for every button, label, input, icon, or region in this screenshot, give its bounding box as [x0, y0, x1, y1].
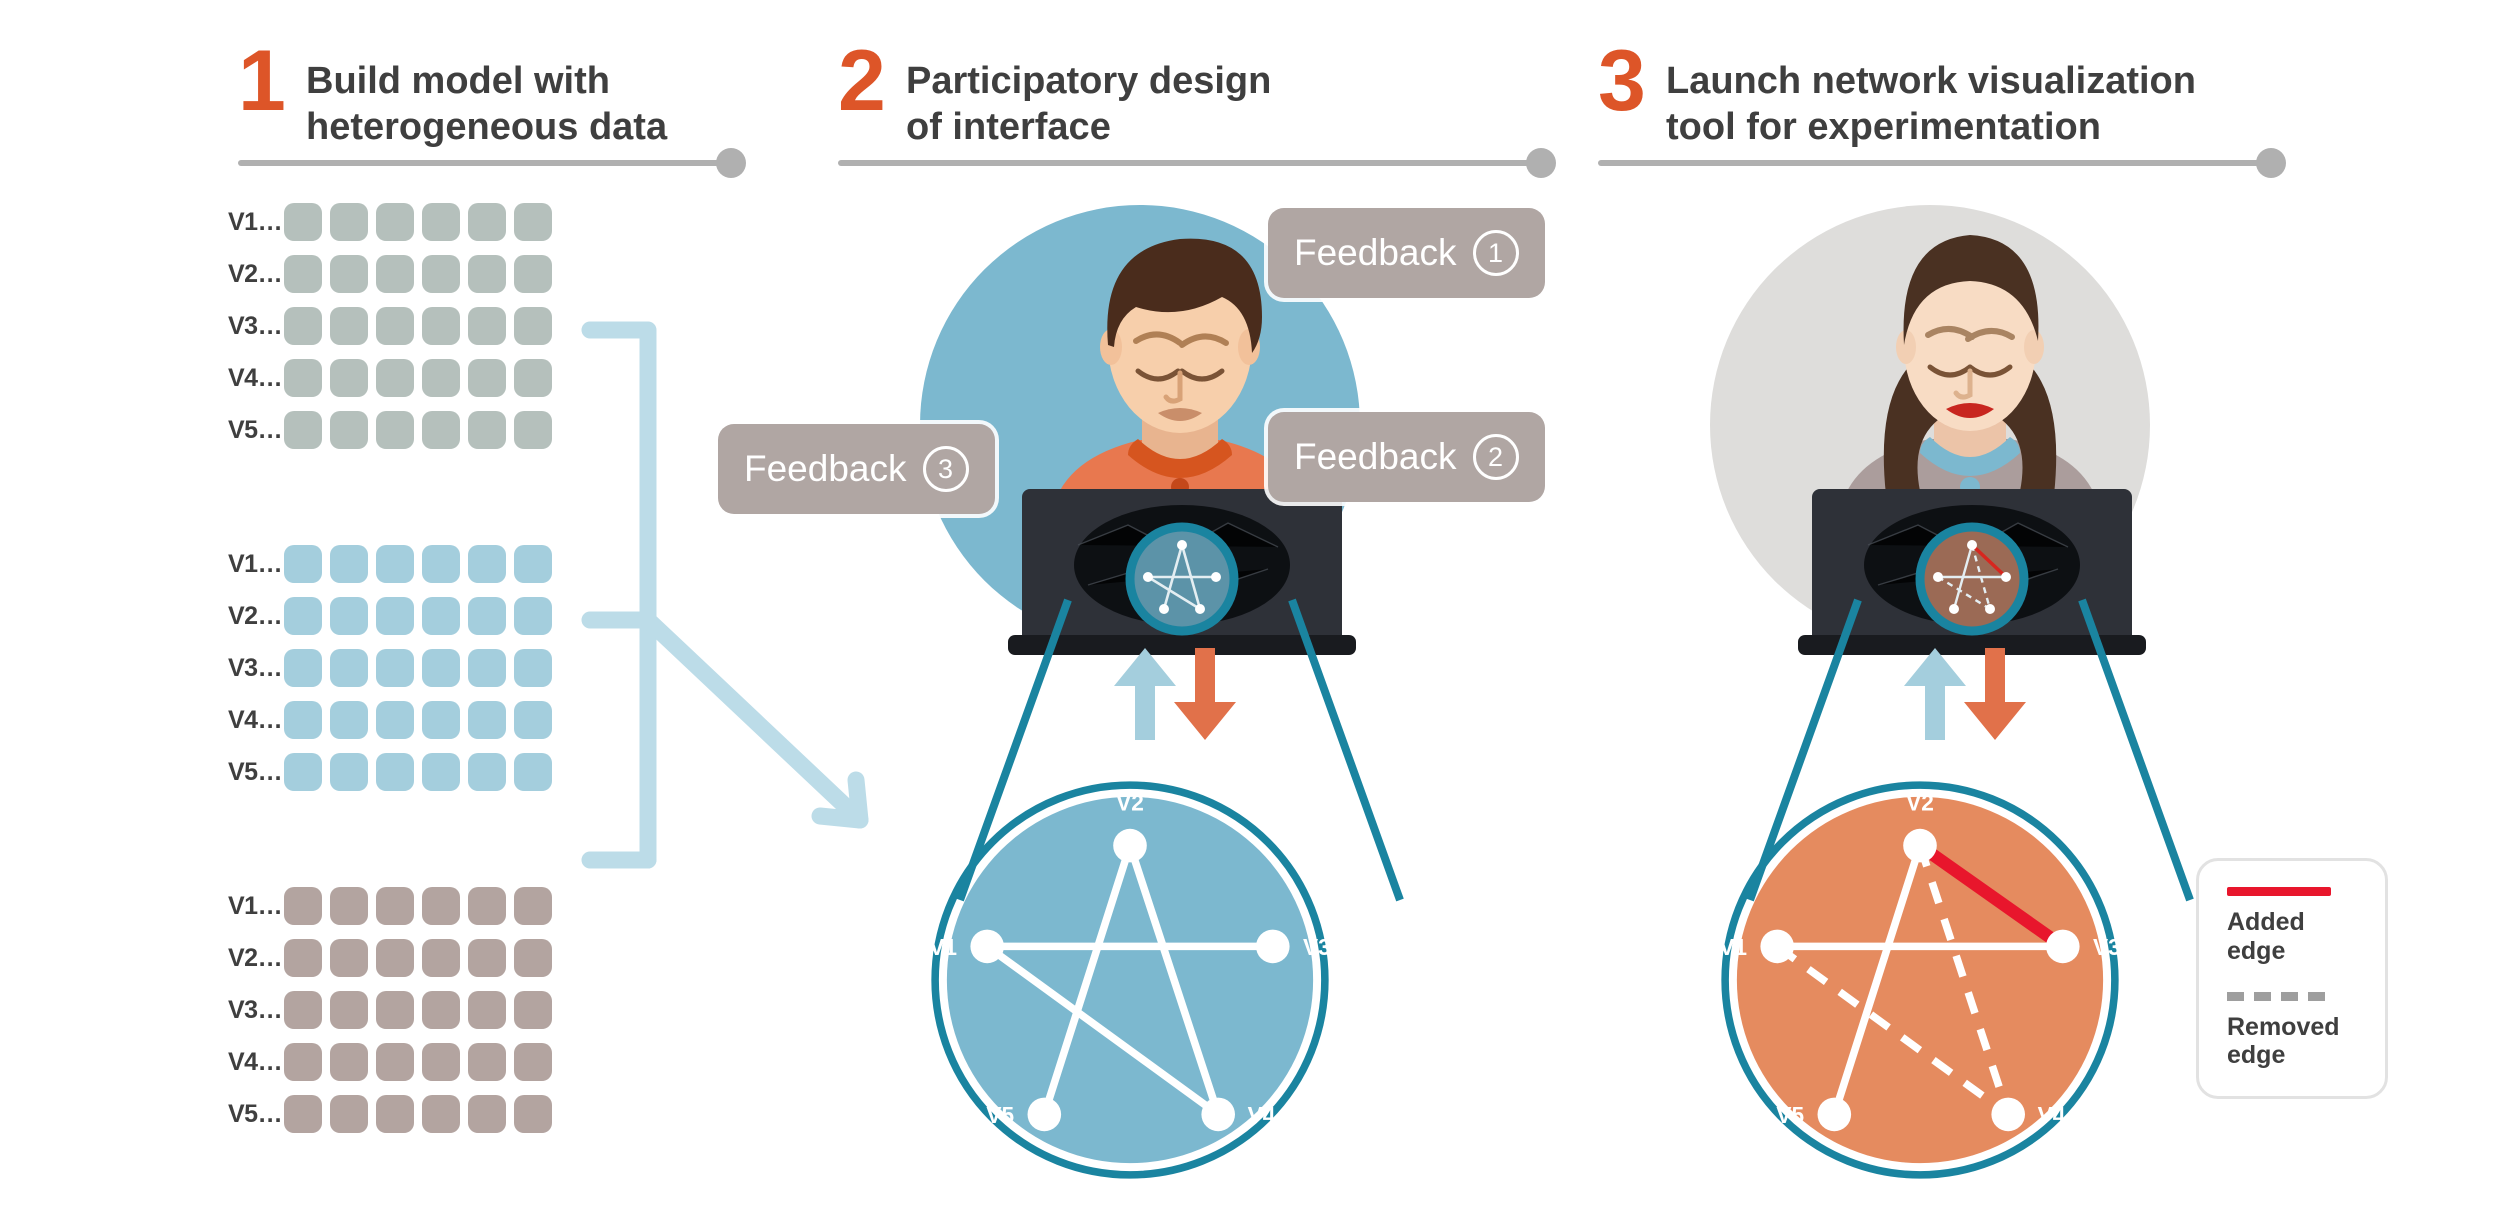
- matrix-row-label: V3…: [228, 654, 284, 683]
- matrix-cell: [330, 545, 368, 583]
- matrix-cell: [376, 649, 414, 687]
- matrix-cell: [330, 753, 368, 791]
- matrix-cell: [330, 701, 368, 739]
- matrix-row: V5…: [228, 746, 560, 798]
- matrix-cell: [376, 887, 414, 925]
- matrix-cell: [422, 939, 460, 977]
- node-v5: [1028, 1098, 1062, 1132]
- matrix-cell: [284, 307, 322, 345]
- matrix-cell: [468, 1043, 506, 1081]
- matrix-cell: [330, 991, 368, 1029]
- node-v3: [1256, 930, 1290, 964]
- matrix-row: V5…: [228, 404, 560, 456]
- matrix-cell: [468, 701, 506, 739]
- node-v2: [1113, 829, 1147, 863]
- matrix-row-label: V4…: [228, 706, 284, 735]
- matrix-row: V5…: [228, 1088, 560, 1140]
- node-label-v3: V3: [1303, 934, 1331, 960]
- matrix-cell: [284, 545, 322, 583]
- step-1-number: 1: [238, 38, 284, 124]
- matrix-cell: [330, 411, 368, 449]
- step-2-rule: [838, 160, 1538, 166]
- matrix-green: V1… V2… V3… V4… V5…: [228, 196, 560, 456]
- matrix-cell: [330, 255, 368, 293]
- matrix-cell: [284, 701, 322, 739]
- matrix-cell: [468, 411, 506, 449]
- step-3-scene: [1690, 195, 2250, 635]
- matrix-cell: [376, 359, 414, 397]
- step-1-rule: [238, 160, 728, 166]
- matrix-row: V1…: [228, 196, 560, 248]
- feedback-bubble-1-number: 1: [1473, 230, 1519, 276]
- added-edge-swatch-icon: [2227, 887, 2331, 896]
- node-v3: [2046, 930, 2080, 964]
- matrix-cell: [468, 649, 506, 687]
- matrix-cell: [284, 887, 322, 925]
- matrix-cell: [376, 307, 414, 345]
- matrix-row: V1…: [228, 538, 560, 590]
- matrix-cell: [514, 887, 552, 925]
- matrix-cell: [514, 545, 552, 583]
- matrix-cell: [330, 1095, 368, 1133]
- matrix-cell: [422, 597, 460, 635]
- matrix-row: V2…: [228, 590, 560, 642]
- matrix-cell: [422, 307, 460, 345]
- step-2-title: Participatory design of interface: [906, 58, 1271, 151]
- matrix-row-label: V1…: [228, 892, 284, 921]
- matrix-row-label: V5…: [228, 1100, 284, 1129]
- matrix-cell: [376, 597, 414, 635]
- matrix-cell: [468, 991, 506, 1029]
- matrix-cell: [468, 203, 506, 241]
- matrix-cell: [468, 255, 506, 293]
- matrix-cell: [376, 991, 414, 1029]
- feedback-bubble-2-label: Feedback: [1294, 436, 1457, 478]
- step-1-title: Build model with heterogeneous data: [306, 58, 667, 151]
- matrix-row: V4…: [228, 694, 560, 746]
- matrix-cell: [422, 411, 460, 449]
- step-3-rule: [1598, 160, 2268, 166]
- matrix-cell: [284, 411, 322, 449]
- matrix-cell: [376, 701, 414, 739]
- matrix-row-label: V4…: [228, 1048, 284, 1077]
- matrix-cell: [330, 359, 368, 397]
- feedback-bubble-1-label: Feedback: [1294, 232, 1457, 274]
- matrix-cell: [514, 753, 552, 791]
- matrix-cell: [514, 701, 552, 739]
- matrix-cell: [330, 307, 368, 345]
- matrix-cell: [422, 545, 460, 583]
- infographic-canvas: 1 Build model with heterogeneous data 2 …: [0, 0, 2500, 1211]
- matrix-cell: [284, 991, 322, 1029]
- matrix-row-label: V5…: [228, 758, 284, 787]
- step-2-network-circle: V2 V1 V3 V4 V5: [840, 770, 1420, 1190]
- matrix-cell: [468, 887, 506, 925]
- matrix-cell: [514, 1095, 552, 1133]
- matrix-row-label: V2…: [228, 602, 284, 631]
- matrix-cell: [514, 991, 552, 1029]
- feedback-bubble-3-label: Feedback: [744, 448, 907, 490]
- feedback-bubble-2-number: 2: [1473, 434, 1519, 480]
- matrix-row-label: V2…: [228, 944, 284, 973]
- matrix-cell: [284, 1095, 322, 1133]
- matrix-cell: [468, 753, 506, 791]
- node-v2: [1903, 829, 1937, 863]
- matrix-cell: [422, 649, 460, 687]
- matrix-cell: [284, 939, 322, 977]
- matrix-row: V3…: [228, 300, 560, 352]
- node-label-v4: V4: [1248, 1102, 1276, 1128]
- matrix-row: V2…: [228, 932, 560, 984]
- matrix-cell: [514, 649, 552, 687]
- matrix-row-label: V1…: [228, 208, 284, 237]
- matrix-cell: [422, 203, 460, 241]
- matrix-row: V3…: [228, 642, 560, 694]
- matrix-cell: [330, 203, 368, 241]
- matrix-cell: [514, 411, 552, 449]
- matrix-row-label: V3…: [228, 312, 284, 341]
- matrix-cell: [330, 597, 368, 635]
- matrix-cell: [514, 307, 552, 345]
- step-3-network-circle: V2 V1 V3 V4 V5: [1630, 770, 2210, 1190]
- feedback-bubble-3-number: 3: [923, 446, 969, 492]
- matrix-row-label: V5…: [228, 416, 284, 445]
- node-v1: [970, 930, 1004, 964]
- matrix-cell: [514, 939, 552, 977]
- matrix-cell: [468, 545, 506, 583]
- matrix-row-label: V3…: [228, 996, 284, 1025]
- matrix-row-label: V1…: [228, 550, 284, 579]
- matrix-cell: [376, 203, 414, 241]
- node-label-v5: V5: [1776, 1102, 1804, 1128]
- edge-legend: Added edge Removed edge: [2196, 858, 2388, 1099]
- node-label-v2: V2: [1116, 789, 1144, 815]
- node-label-v2: V2: [1906, 789, 1934, 815]
- matrix-cell: [376, 753, 414, 791]
- step-1-rule-dot: [716, 148, 746, 178]
- step-3-rule-dot: [2256, 148, 2286, 178]
- matrix-cell: [376, 1043, 414, 1081]
- matrix-cell: [330, 887, 368, 925]
- matrix-cell: [330, 1043, 368, 1081]
- node-label-v5: V5: [986, 1102, 1014, 1128]
- matrix-cell: [284, 597, 322, 635]
- matrix-blue: V1… V2… V3… V4… V5…: [228, 538, 560, 798]
- step-3-title: Launch network visualization tool for ex…: [1666, 58, 2196, 151]
- feedback-bubble-3[interactable]: Feedback 3: [718, 424, 995, 514]
- matrix-cell: [422, 701, 460, 739]
- matrix-cell: [284, 649, 322, 687]
- matrix-cell: [468, 359, 506, 397]
- node-label-v4: V4: [2038, 1102, 2066, 1128]
- feedback-bubble-2[interactable]: Feedback 2: [1268, 412, 1545, 502]
- matrix-row: V4…: [228, 352, 560, 404]
- node-v4: [1201, 1098, 1235, 1132]
- node-v1: [1760, 930, 1794, 964]
- matrix-row: V3…: [228, 984, 560, 1036]
- matrix-row: V2…: [228, 248, 560, 300]
- matrix-cell: [422, 753, 460, 791]
- matrix-cell: [376, 411, 414, 449]
- step-2-rule-dot: [1526, 148, 1556, 178]
- added-edge-label: Added edge: [2227, 908, 2357, 966]
- matrix-row: V1…: [228, 880, 560, 932]
- matrix-cell: [422, 887, 460, 925]
- matrix-brown: V1… V2… V3… V4… V5…: [228, 880, 560, 1140]
- matrix-cell: [376, 939, 414, 977]
- step-3-number: 3: [1598, 38, 1644, 124]
- matrix-cell: [284, 255, 322, 293]
- matrix-cell: [284, 753, 322, 791]
- matrix-cell: [468, 939, 506, 977]
- node-v5: [1818, 1098, 1852, 1132]
- feedback-bubble-1[interactable]: Feedback 1: [1268, 208, 1545, 298]
- matrix-cell: [468, 307, 506, 345]
- matrix-cell: [514, 359, 552, 397]
- matrix-cell: [330, 649, 368, 687]
- matrix-cell: [422, 991, 460, 1029]
- removed-edge-swatch-icon: [2227, 992, 2331, 1001]
- matrix-cell: [330, 939, 368, 977]
- matrix-cell: [422, 1043, 460, 1081]
- matrix-cell: [468, 597, 506, 635]
- step-2-number: 2: [838, 38, 884, 124]
- matrix-cell: [422, 359, 460, 397]
- matrix-cell: [376, 1095, 414, 1133]
- matrix-cell: [514, 1043, 552, 1081]
- matrix-row-label: V2…: [228, 260, 284, 289]
- node-label-v1: V1: [1719, 934, 1747, 960]
- matrix-cell: [514, 203, 552, 241]
- removed-edge-label: Removed edge: [2227, 1013, 2357, 1071]
- matrix-cell: [376, 255, 414, 293]
- matrix-cell: [514, 255, 552, 293]
- matrix-cell: [422, 255, 460, 293]
- matrix-cell: [514, 597, 552, 635]
- matrix-cell: [284, 203, 322, 241]
- matrix-cell: [284, 359, 322, 397]
- matrix-row-label: V4…: [228, 364, 284, 393]
- matrix-cell: [284, 1043, 322, 1081]
- node-label-v3: V3: [2093, 934, 2121, 960]
- node-label-v1: V1: [929, 934, 957, 960]
- matrix-cell: [468, 1095, 506, 1133]
- node-v4: [1991, 1098, 2025, 1132]
- matrix-row: V4…: [228, 1036, 560, 1088]
- matrix-cell: [422, 1095, 460, 1133]
- matrix-cell: [376, 545, 414, 583]
